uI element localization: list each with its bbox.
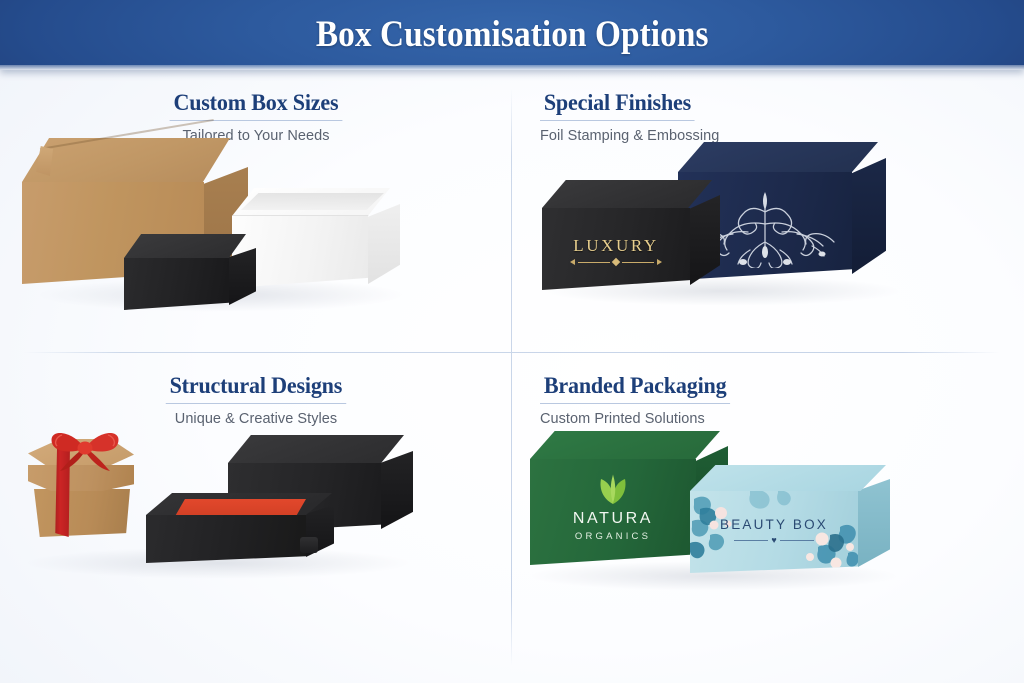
red-ribbon-bow-icon [40,427,130,473]
natura-brand-name: NATURA [542,510,684,528]
green-branded-mailer-top [530,431,720,459]
page-header: Box Customisation Options [0,0,1024,70]
quadrant-grid: Custom Box Sizes Tailored to Your Needs [0,70,1024,683]
quadrant-custom-box-sizes[interactable]: Custom Box Sizes Tailored to Your Needs [0,70,512,352]
white-mailer-box-inner-lip [238,193,384,210]
quadrant-heading: Custom Box Sizes Tailored to Your Needs [0,90,512,144]
navy-embossed-box-side [852,158,886,274]
quadrant-heading: Special Finishes Foil Stamping & Embossi… [540,90,980,144]
white-mailer-box-side [368,204,400,284]
natura-brand-lockup: NATURA ORGANICS [542,473,684,542]
drawer-pull-tab [300,537,318,553]
quadrant-title: Custom Box Sizes [170,90,343,121]
beauty-box-lockup: BEAUTY BOX ♥ [698,517,850,545]
quadrant-structural-designs[interactable]: Structural Designs Unique & Creative Sty… [0,353,512,635]
box-illustration-branded-packaging: NATURA ORGANICS [512,421,1024,635]
three-leaf-icon [590,473,636,505]
black-foil-stamped-box-top [542,180,712,208]
page-title: Box Customisation Options [316,13,709,56]
kraft-gift-box-base [34,489,130,537]
box-illustration-custom-sizes [0,138,512,352]
blue-floral-beauty-box-side [858,479,890,567]
beauty-box-label: BEAUTY BOX [698,517,850,532]
navy-embossed-box-top [678,142,878,172]
black-drawer-sleeve-top [228,435,404,463]
black-drawer-tray-front [146,515,306,563]
quadrant-branded-packaging[interactable]: Branded Packaging Custom Printed Solutio… [512,353,1024,635]
natura-brand-tagline: ORGANICS [542,531,684,542]
black-foil-stamped-box-front [542,208,690,290]
heart-divider-icon: ♥ [698,536,850,545]
blue-floral-beauty-box-top [690,465,886,491]
small-black-box-top [124,234,246,258]
quadrant-title: Branded Packaging [540,373,730,404]
black-drawer-sleeve-side [381,451,413,529]
quadrant-heading: Branded Packaging Custom Printed Solutio… [540,373,980,427]
quadrant-special-finishes[interactable]: Special Finishes Foil Stamping & Embossi… [512,70,1024,352]
small-black-box-front [124,258,229,310]
quadrant-title: Special Finishes [540,90,695,121]
infographic-page: Box Customisation Options Custom Box Siz… [0,0,1024,683]
quadrant-heading: Structural Designs Unique & Creative Sty… [0,373,512,427]
box-illustration-special-finishes: LUXURY [512,138,1024,352]
box-illustration-structural-designs [0,421,512,635]
large-kraft-shipping-box-top [22,138,230,182]
quadrant-title: Structural Designs [166,373,346,404]
